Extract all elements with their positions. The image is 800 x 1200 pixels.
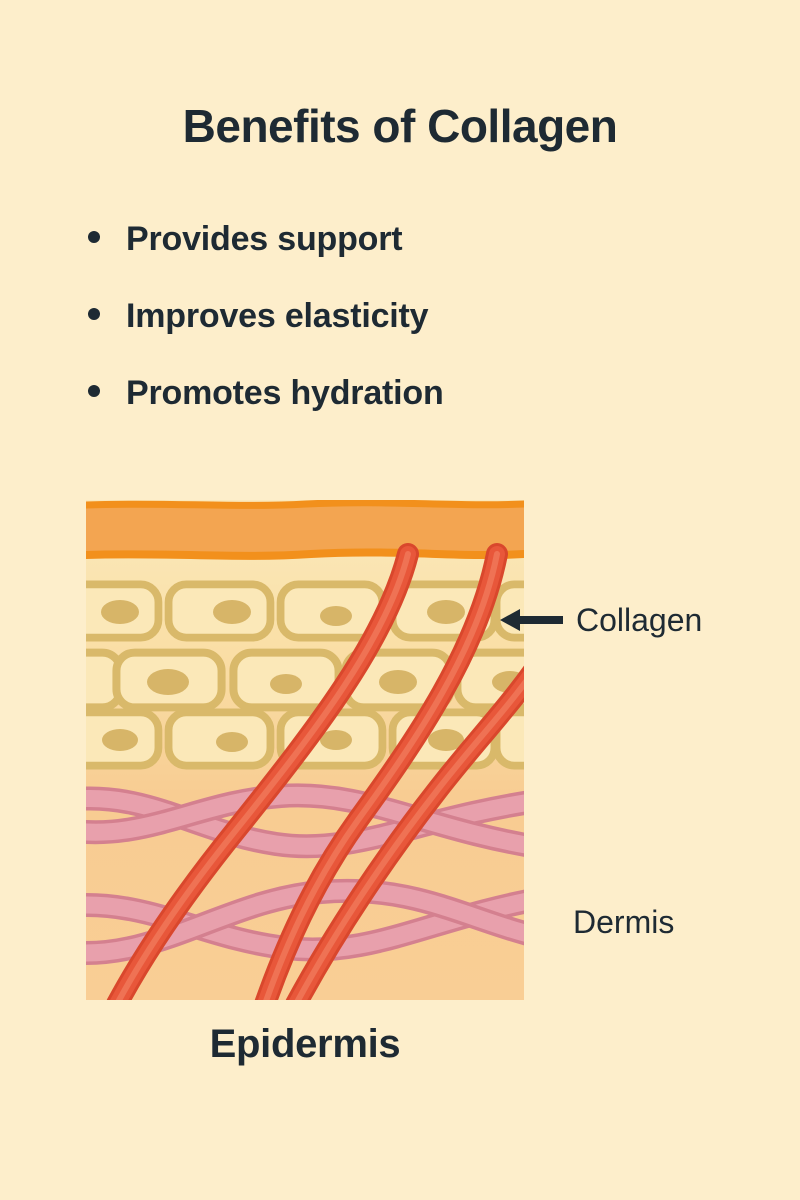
layer-label-epidermis: Epidermis [86, 1024, 524, 1064]
skin-cross-section-diagram [86, 500, 524, 1000]
bullet-dot-icon [88, 231, 100, 243]
callout-collagen: Collagen [498, 598, 702, 642]
list-item: Promotes hydration [88, 376, 648, 453]
cell-row [86, 584, 524, 637]
list-item: Provides support [88, 222, 648, 299]
list-item: Improves elasticity [88, 299, 648, 376]
page-title: Benefits of Collagen [0, 103, 800, 149]
list-item-label: Provides support [126, 222, 402, 256]
skin-surface-band [86, 503, 524, 556]
list-item-label: Promotes hydration [126, 376, 444, 410]
poster: Benefits of Collagen Provides support Im… [0, 0, 800, 1200]
bullet-dot-icon [88, 385, 100, 397]
bullet-dot-icon [88, 308, 100, 320]
layer-label-dermis: Dermis [573, 906, 674, 938]
left-arrow-icon [498, 606, 564, 634]
callout-label-collagen: Collagen [576, 604, 702, 636]
list-item-label: Improves elasticity [126, 299, 428, 333]
benefits-list: Provides support Improves elasticity Pro… [88, 222, 648, 453]
